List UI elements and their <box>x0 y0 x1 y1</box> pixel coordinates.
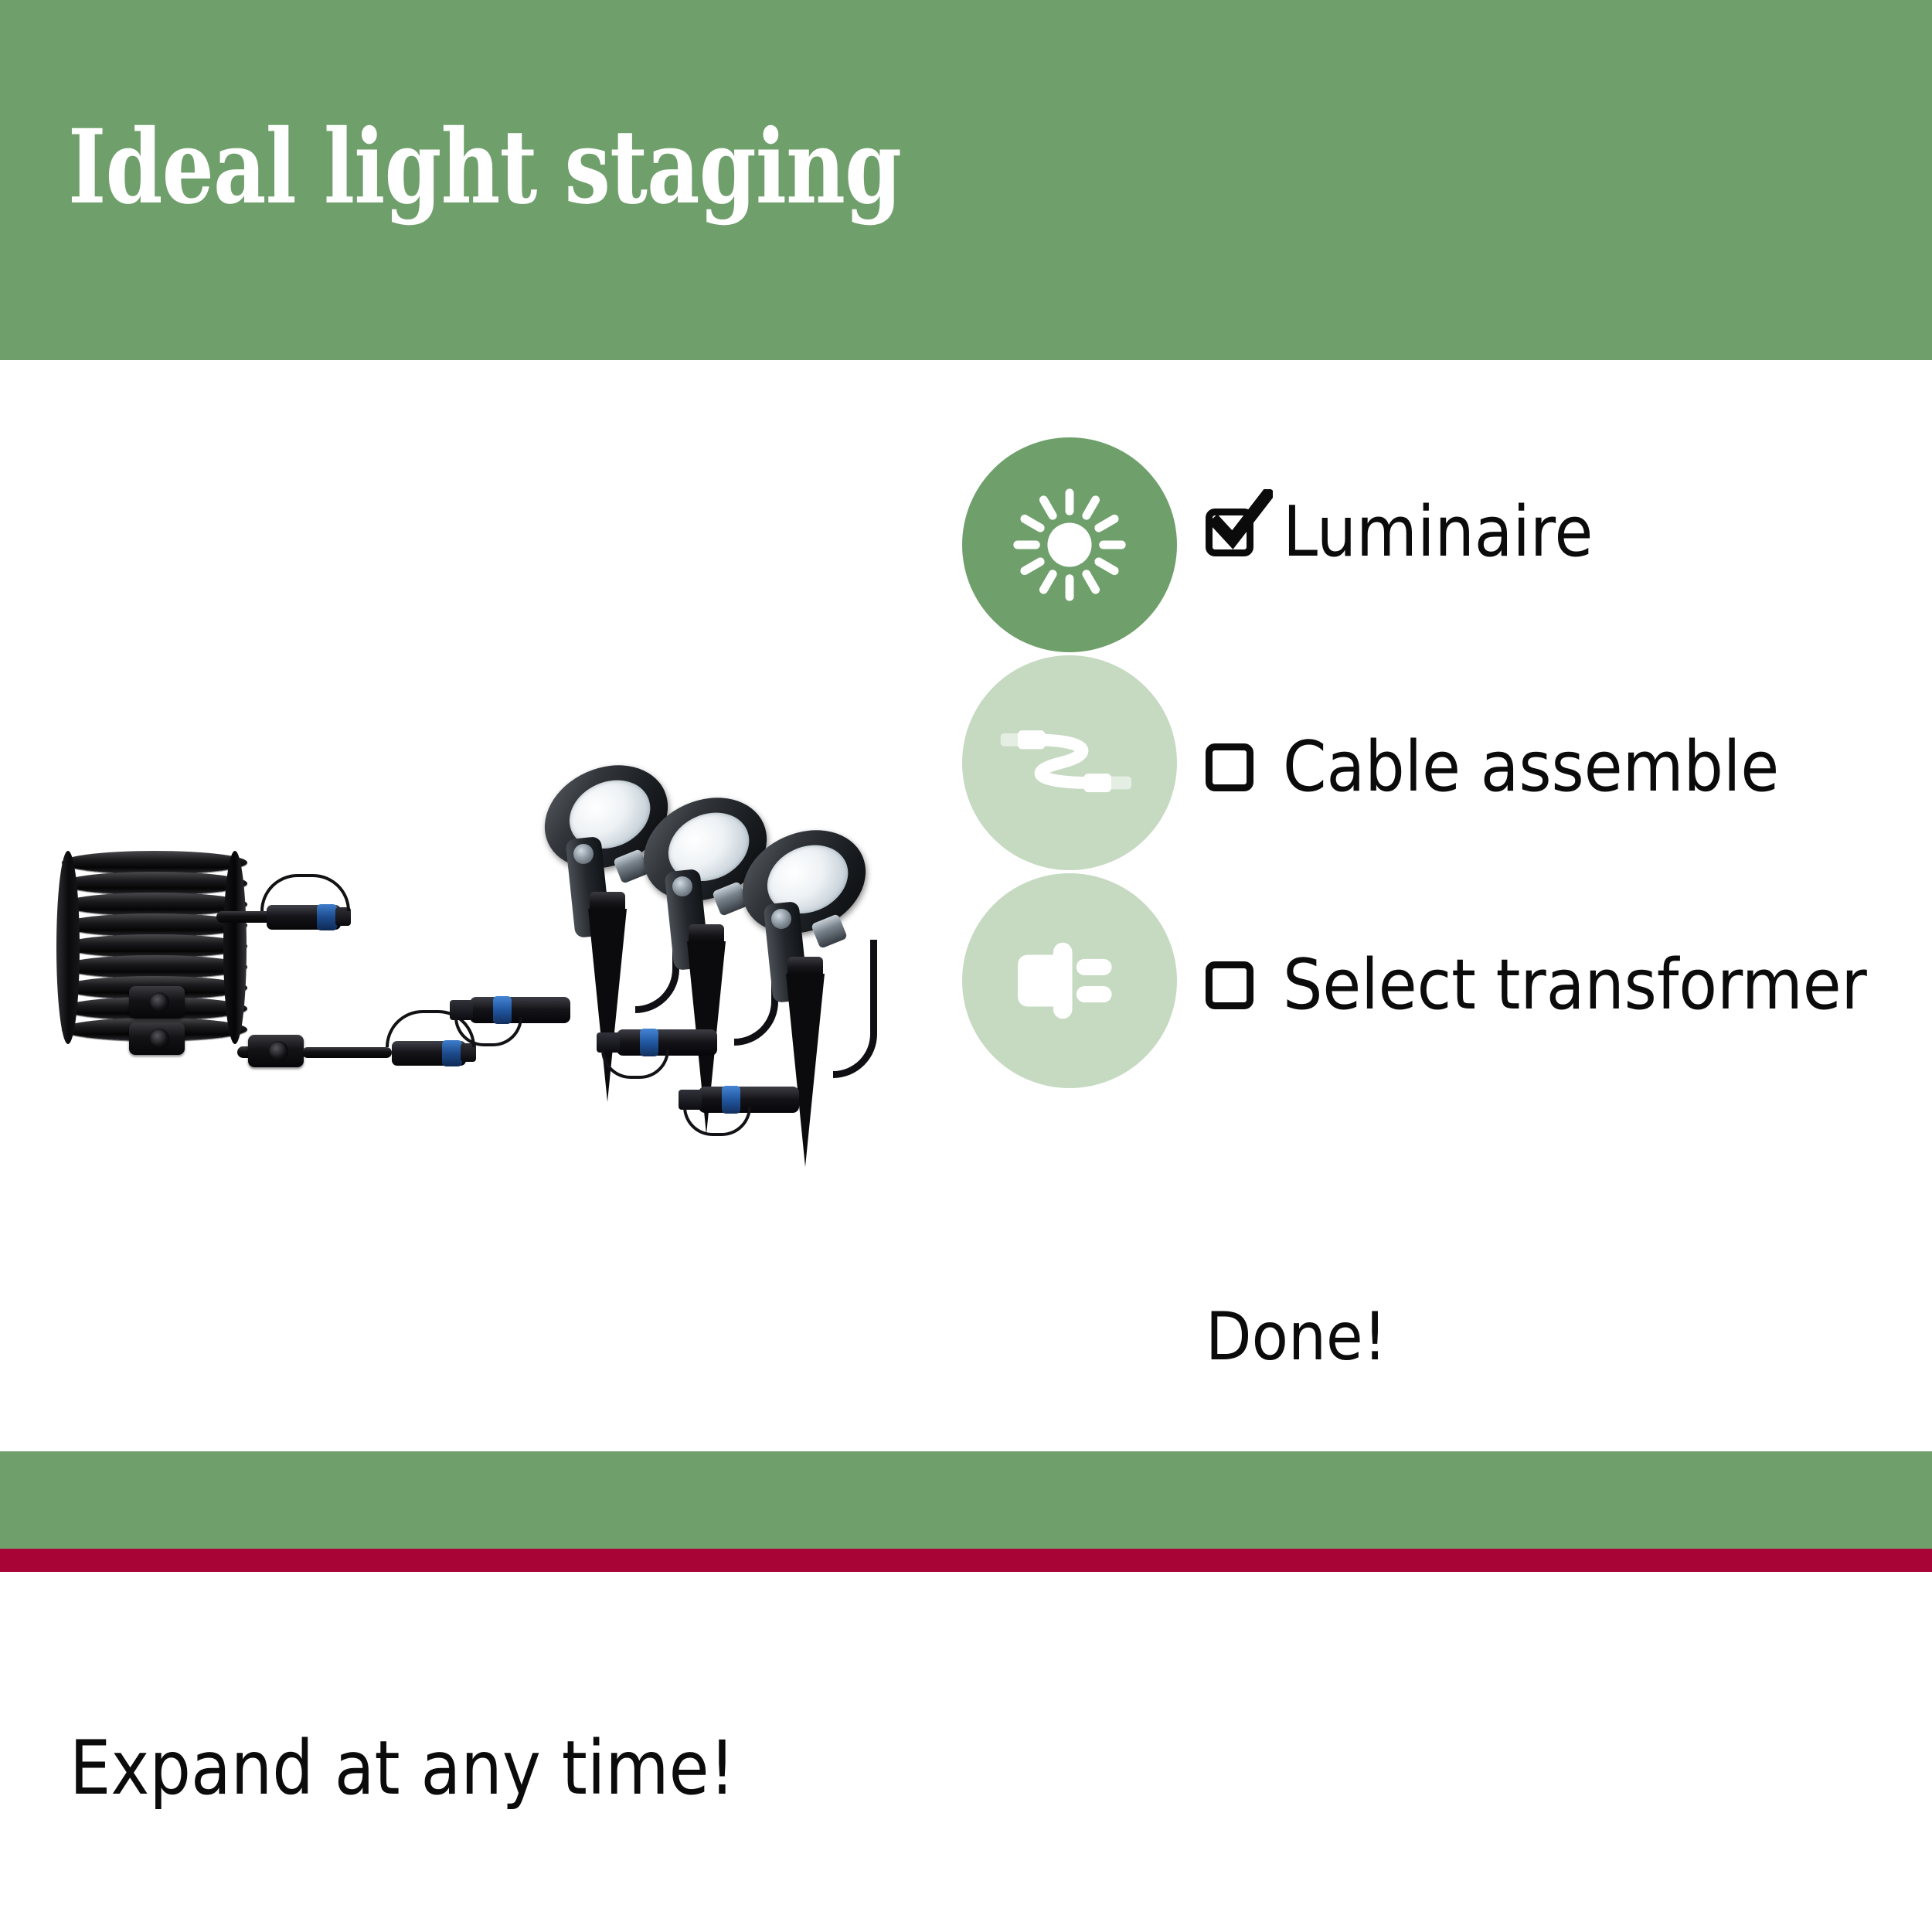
plug-icon-circle <box>962 873 1177 1088</box>
cable-lead <box>302 1047 392 1058</box>
footer-caption: Expand at any time! <box>70 1725 735 1811</box>
spotlight-screw <box>573 844 594 864</box>
page-title: Ideal light staging <box>68 114 901 222</box>
done-text: Done! <box>1206 1298 1387 1376</box>
checklist-label-cable-assemble: Cable assemble <box>1283 733 1779 802</box>
cable-tee-connector <box>129 1022 185 1055</box>
checkbox-cable-assemble[interactable] <box>1206 743 1253 791</box>
checklist: Luminaire Cable assemble <box>962 437 1889 1091</box>
spotlight-spike-cap <box>590 892 625 910</box>
cable-icon-circle <box>962 655 1177 870</box>
spotlight-screw <box>771 909 791 929</box>
footer-green-bar <box>0 1451 1932 1549</box>
cable-icon <box>998 691 1141 835</box>
sun-icon-circle <box>962 437 1177 652</box>
checkbox-luminaire[interactable] <box>1206 509 1253 556</box>
garden-spotlight <box>731 827 909 1190</box>
spotlight-cord <box>833 940 877 1078</box>
plug-icon <box>1002 913 1138 1049</box>
spotlight-screw <box>672 876 692 896</box>
spotlight-head <box>726 811 883 952</box>
spotlight-spike-cap <box>689 924 724 943</box>
garden-spotlights <box>533 762 943 1218</box>
cable-coil-left-edge <box>56 851 80 1044</box>
checklist-item-luminaire[interactable]: Luminaire <box>962 437 1889 655</box>
spotlight-ground-spike <box>786 974 825 1167</box>
checkmark-icon <box>1208 489 1273 554</box>
sun-icon <box>1005 480 1134 610</box>
product-image <box>0 360 943 1450</box>
cable-tee-connector <box>248 1035 304 1067</box>
footer-red-bar <box>0 1549 1932 1572</box>
cable-coil-right-edge <box>223 851 247 1044</box>
connection-cable-coil <box>58 820 491 1075</box>
cable-plug-strap <box>260 874 350 911</box>
checklist-label-luminaire: Luminaire <box>1283 498 1593 567</box>
checkbox-select-transformer[interactable] <box>1206 961 1253 1009</box>
checklist-item-cable-assemble[interactable]: Cable assemble <box>962 655 1889 873</box>
header-band: Ideal light staging <box>0 0 1932 360</box>
cable-tee-connector <box>129 986 185 1019</box>
spotlight-spike-cap <box>787 957 823 975</box>
checklist-label-select-transformer: Select transformer <box>1283 951 1867 1020</box>
checklist-item-select-transformer[interactable]: Select transformer <box>962 873 1889 1091</box>
